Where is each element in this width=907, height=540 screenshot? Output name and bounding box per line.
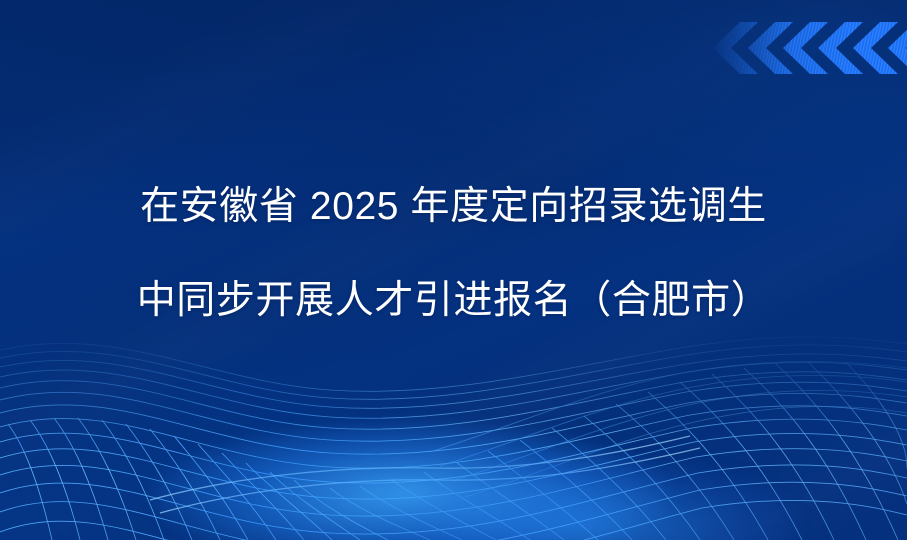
banner-poster: 在安徽省 2025 年度定向招录选调生 中同步开展人才引进报名（合肥市） [0, 0, 907, 540]
chevron-decoration-group [706, 22, 907, 74]
wireframe-landscape [0, 328, 907, 540]
chevron-left-icon [888, 22, 907, 74]
mesh-svg [0, 328, 907, 540]
